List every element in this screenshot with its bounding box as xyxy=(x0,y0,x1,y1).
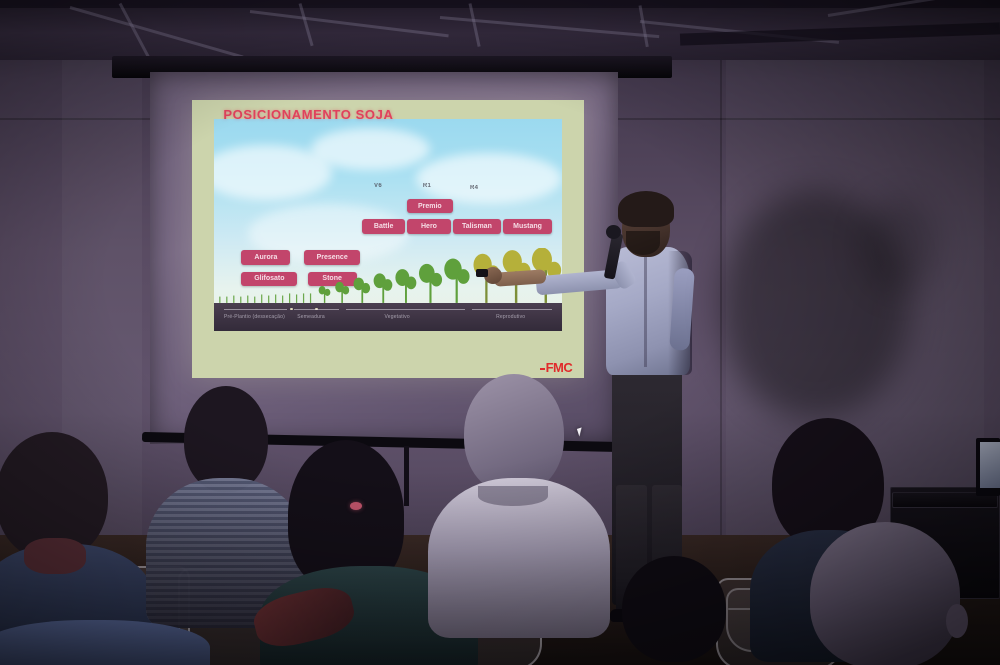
timeline-segment xyxy=(224,309,287,310)
audience-torso xyxy=(0,620,210,665)
timeline-segment xyxy=(346,309,465,310)
cloud-decor xyxy=(311,128,430,170)
timeline-segment xyxy=(294,309,339,310)
collar-line xyxy=(478,486,548,506)
stage-tick-v6: V6 xyxy=(374,183,382,189)
audience-head xyxy=(622,556,726,662)
growth-stage-timeline: Pré-Plantio (dessecação) Semeadura Veget… xyxy=(214,303,563,326)
audience-member xyxy=(424,374,614,665)
projected-slide: V6 R1 R4 Premio Battle Hero Talisman Mus… xyxy=(192,100,584,378)
ceiling-beam xyxy=(0,0,1000,8)
stage-tick-r1: R1 xyxy=(423,183,431,189)
audience-member xyxy=(0,620,210,665)
stage-tick-r4: R4 xyxy=(470,185,478,191)
product-box-hero[interactable]: Hero xyxy=(407,219,451,234)
product-box-talisman[interactable]: Talisman xyxy=(453,219,502,234)
audience-head-bald xyxy=(810,522,960,665)
hair-clip-icon xyxy=(350,502,362,510)
wall-shadow xyxy=(862,196,938,292)
timeline-label-semeadura: Semeadura xyxy=(297,314,325,320)
timeline-label-pre-plantio: Pré-Plantio (dessecação) xyxy=(224,314,285,320)
presenter-shirt-placket xyxy=(644,255,647,367)
product-box-mustang[interactable]: Mustang xyxy=(503,219,552,234)
audience-head xyxy=(184,386,268,492)
timeline-segment xyxy=(472,309,552,310)
audience-member xyxy=(604,556,754,665)
cloud-decor xyxy=(416,153,563,204)
presenter-hair xyxy=(618,191,674,227)
slide-content-area: V6 R1 R4 Premio Battle Hero Talisman Mus… xyxy=(214,119,563,330)
presenter-beard xyxy=(626,231,660,255)
laptop-screen[interactable] xyxy=(980,442,1000,488)
product-box-premio[interactable]: Premio xyxy=(407,199,452,214)
audience-head-grey-hair xyxy=(464,374,564,494)
audience-member xyxy=(790,522,990,665)
microphone-head-icon xyxy=(606,225,621,239)
slide-title: POSICIONAMENTO SOJA xyxy=(223,107,393,122)
laser-pointer-icon[interactable] xyxy=(476,269,488,277)
logo-dash-icon xyxy=(540,368,545,371)
timeline-label-vegetativo: Vegetativo xyxy=(384,314,409,320)
audience-ear xyxy=(946,604,968,638)
conference-room-photo: V6 R1 R4 Premio Battle Hero Talisman Mus… xyxy=(0,0,1000,665)
product-box-battle[interactable]: Battle xyxy=(362,219,406,234)
timeline-label-reprodutivo: Reprodutivo xyxy=(496,314,525,320)
audience-neck-skin xyxy=(24,538,86,574)
